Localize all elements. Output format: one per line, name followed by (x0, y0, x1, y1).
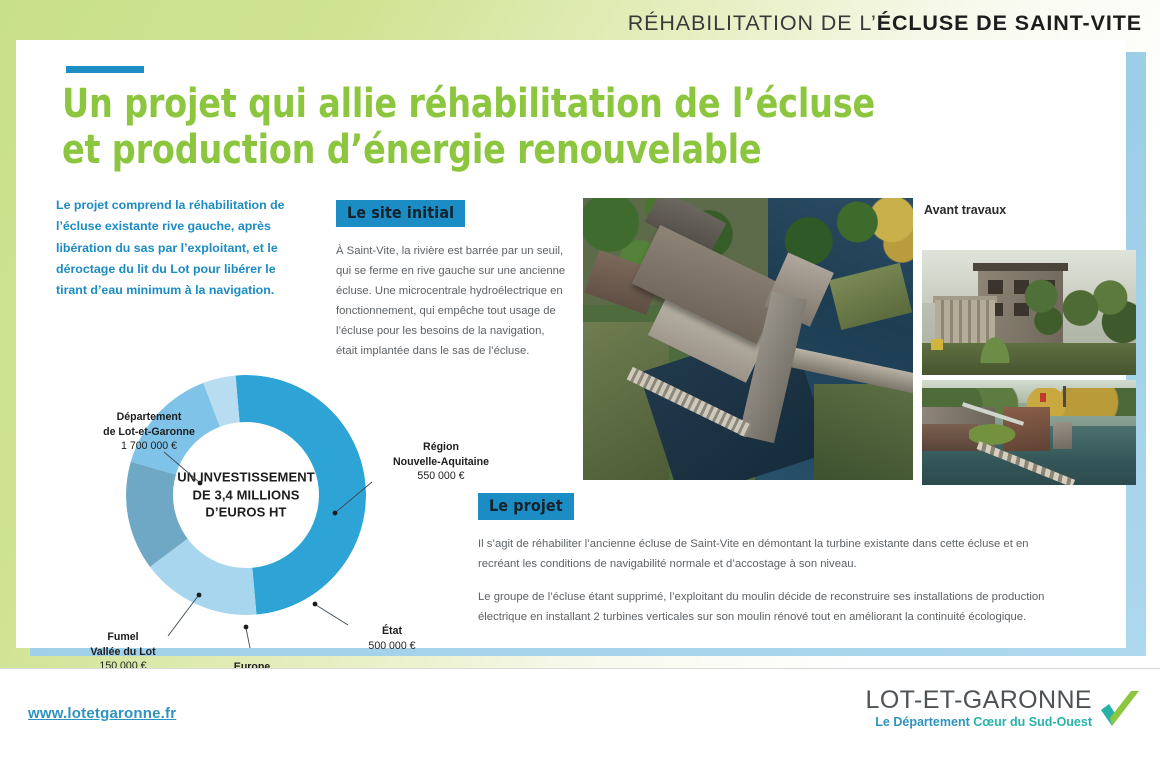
logo-text-block: LOT-ET-GARONNE Le Département Cœur du Su… (866, 687, 1092, 729)
mill-building-roof (973, 263, 1067, 272)
callout-value: 500 000 € (342, 639, 442, 654)
photo-caption-before-works: Avant travaux (924, 203, 1006, 217)
page-title-line-2: et production d’énergie renouvelable (62, 128, 992, 174)
section-heading-projet: Le projet (478, 493, 574, 520)
page-title: Un projet qui allie réhabilitation de l’… (62, 82, 992, 173)
header-title-light: RÉHABILITATION DE L’ (628, 11, 877, 35)
callout-value: 550 000 € (376, 469, 506, 484)
mast-pole (1063, 386, 1066, 407)
logo-checkmark-icon (1098, 688, 1142, 732)
callout-label-line-1: Région (376, 440, 506, 455)
header-title-strong: ÉCLUSE DE SAINT-VITE (877, 11, 1142, 35)
poster-canvas: RÉHABILITATION DE L’ÉCLUSE DE SAINT-VITE… (0, 0, 1160, 762)
content-card: Un projet qui allie réhabilitation de l’… (16, 40, 1126, 648)
section-site-initial: Le site initial À Saint-Vite, la rivière… (336, 200, 568, 362)
photo-lock-scene (922, 380, 1136, 485)
red-marker (1040, 393, 1046, 402)
section-heading-site-initial: Le site initial (336, 200, 465, 227)
donut-center-line-2: DE 3,4 MILLIONS (171, 486, 321, 504)
logo-secondary-text: Le Département Cœur du Sud-Ouest (866, 715, 1092, 729)
foreground-plant (978, 333, 1012, 363)
callout-label-line-1: Département (74, 410, 224, 425)
chart-callout-etat: État 500 000 € (342, 624, 442, 653)
photo-aerial-scene (583, 198, 913, 480)
header-title: RÉHABILITATION DE L’ÉCLUSE DE SAINT-VITE (628, 11, 1142, 36)
callout-label-line-2: Vallée du Lot (68, 645, 178, 660)
projet-body: Il s’agit de réhabiliter l’ancienne éclu… (478, 534, 1048, 627)
callout-label-line-1: Fumel (68, 630, 178, 645)
section-projet: Le projet Il s’agit de réhabiliter l’anc… (478, 493, 1048, 627)
donut-center-line-1: UN INVESTISSEMENT (171, 469, 321, 487)
donut-center-label: UN INVESTISSEMENT DE 3,4 MILLIONS D’EURO… (171, 469, 321, 522)
logo-coeur-text: Cœur du Sud-Ouest (973, 715, 1092, 729)
photo-lock-before-works (922, 380, 1136, 485)
machinery-marker (931, 339, 944, 350)
chart-callout-region: Région Nouvelle-Aquitaine 550 000 € (376, 440, 506, 484)
callout-value: 1 700 000 € (74, 439, 224, 454)
grass-right-bank (814, 384, 913, 480)
callout-label-line-2: Nouvelle-Aquitaine (376, 455, 506, 470)
ground (922, 343, 1136, 376)
donut-center-line-3: D’EUROS HT (171, 504, 321, 522)
projet-paragraph-2: Le groupe de l’écluse étant supprimé, l’… (478, 587, 1048, 627)
photo-mill-scene (922, 250, 1136, 375)
title-accent-rule (66, 66, 144, 73)
photo-aerial-site (583, 198, 913, 480)
callout-label-line-1: État (342, 624, 442, 639)
vegetation-right (1055, 280, 1136, 350)
poster-footer: www.lotetgaronne.fr LOT-ET-GARONNE Le Dé… (0, 668, 1160, 762)
website-link[interactable]: www.lotetgaronne.fr (28, 705, 176, 722)
projet-paragraph-1: Il s’agit de réhabiliter l’ancienne éclu… (478, 534, 1048, 574)
page-title-line-1: Un projet qui allie réhabilitation de l’… (62, 82, 992, 128)
logo-departement-text: Le Département (875, 715, 969, 729)
chart-callout-departement: Département de Lot-et-Garonne 1 700 000 … (74, 410, 224, 454)
intro-paragraph: Le projet comprend la réhabilitation de … (56, 195, 296, 302)
site-initial-body: À Saint-Vite, la rivière est barrée par … (336, 241, 568, 362)
window (988, 280, 1003, 294)
logo-primary-text: LOT-ET-GARONNE (866, 687, 1092, 713)
mooring-post (1053, 422, 1072, 449)
photo-mill-before-works (922, 250, 1136, 375)
callout-label-line-2: de Lot-et-Garonne (74, 425, 224, 440)
logo-lot-et-garonne: LOT-ET-GARONNE Le Département Cœur du Su… (866, 687, 1142, 732)
